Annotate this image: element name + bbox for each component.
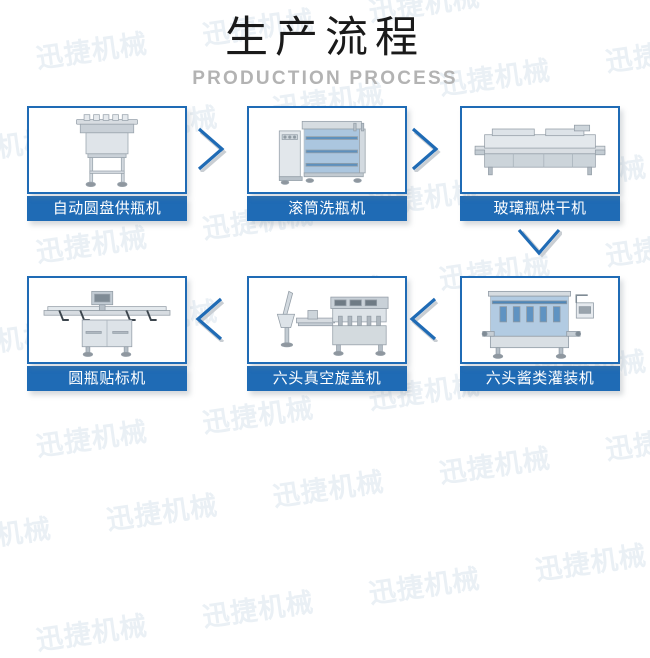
process-step-label: 六头真空旋盖机: [247, 366, 407, 391]
process-step-label: 滚筒洗瓶机: [247, 196, 407, 221]
machine-image-frame: [247, 276, 407, 364]
process-step-card-2[interactable]: 滚筒洗瓶机: [247, 106, 407, 221]
disc-bottle-feeder-image: [29, 108, 185, 192]
machine-image-frame: [247, 106, 407, 194]
six-head-vacuum-capper-image: [249, 278, 405, 362]
drum-bottle-washer-image: [249, 108, 405, 192]
process-step-label: 圆瓶贴标机: [27, 366, 187, 391]
chevron-right-icon: [407, 126, 441, 172]
watermark-text: 迅捷机械: [200, 580, 316, 634]
machine-image-frame: [27, 276, 187, 364]
watermark-text: 迅捷机械: [104, 483, 220, 537]
process-step-label: 自动圆盘供瓶机: [27, 196, 187, 221]
process-step-card-6[interactable]: 六头酱类灌装机: [460, 276, 620, 391]
six-head-sauce-filler-image: [462, 278, 618, 362]
watermark-row: 迅捷机械 迅捷机械 迅捷机械 迅捷机械 迅捷机械: [33, 521, 650, 658]
process-step-card-3[interactable]: 玻璃瓶烘干机: [460, 106, 620, 221]
page-subtitle: PRODUCTION PROCESS: [0, 68, 650, 90]
page-header: 生产流程 PRODUCTION PROCESS: [0, 0, 650, 90]
chevron-right-icon: [193, 126, 227, 172]
glass-bottle-dryer-image: [462, 108, 618, 192]
watermark-text: 迅捷机械: [366, 557, 482, 611]
chevron-left-icon: [193, 296, 227, 342]
flow-row-1: 自动圆盘供瓶机: [0, 106, 650, 271]
process-step-label: 玻璃瓶烘干机: [460, 196, 620, 221]
machine-image-frame: [460, 106, 620, 194]
flow-row-2: 圆瓶贴标机: [0, 276, 650, 441]
watermark-text: 迅捷机械: [0, 507, 54, 561]
process-step-card-4[interactable]: 圆瓶贴标机: [27, 276, 187, 391]
process-step-card-1[interactable]: 自动圆盘供瓶机: [27, 106, 187, 221]
watermark-text: 迅捷机械: [270, 460, 386, 514]
chevron-down-icon: [516, 224, 562, 258]
machine-image-frame: [27, 106, 187, 194]
round-bottle-labeler-image: [29, 278, 185, 362]
process-step-label: 六头酱类灌装机: [460, 366, 620, 391]
process-step-card-5[interactable]: 六头真空旋盖机: [247, 276, 407, 391]
watermark-text: 迅捷机械: [33, 604, 149, 658]
production-flow-diagram: 自动圆盘供瓶机: [0, 106, 650, 441]
watermark-text: 迅捷机械: [532, 533, 648, 587]
page-title: 生产流程: [0, 12, 650, 64]
watermark-text: 迅捷机械: [436, 436, 552, 490]
chevron-left-icon: [407, 296, 441, 342]
machine-image-frame: [460, 276, 620, 364]
